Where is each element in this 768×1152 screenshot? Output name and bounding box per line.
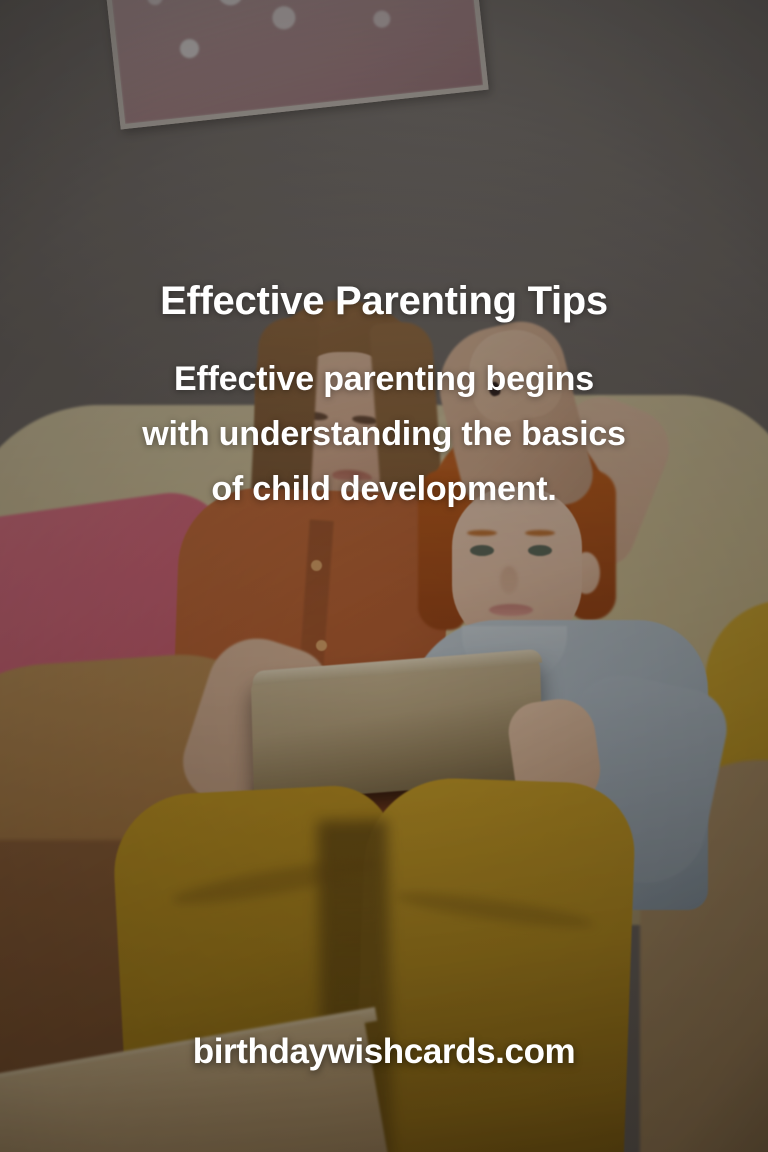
poster-canvas: Effective Parenting Tips Effective paren… xyxy=(0,0,768,1152)
site-watermark: birthdaywishcards.com xyxy=(0,1032,768,1072)
subtitle-line-2: with understanding the basics xyxy=(52,407,716,462)
subtitle-line-3: of child development. xyxy=(52,462,716,517)
page-title: Effective Parenting Tips xyxy=(0,280,768,322)
subtitle-block: Effective parenting begins with understa… xyxy=(52,352,716,517)
text-overlay: Effective Parenting Tips Effective paren… xyxy=(0,0,768,1152)
subtitle-line-1: Effective parenting begins xyxy=(52,352,716,407)
